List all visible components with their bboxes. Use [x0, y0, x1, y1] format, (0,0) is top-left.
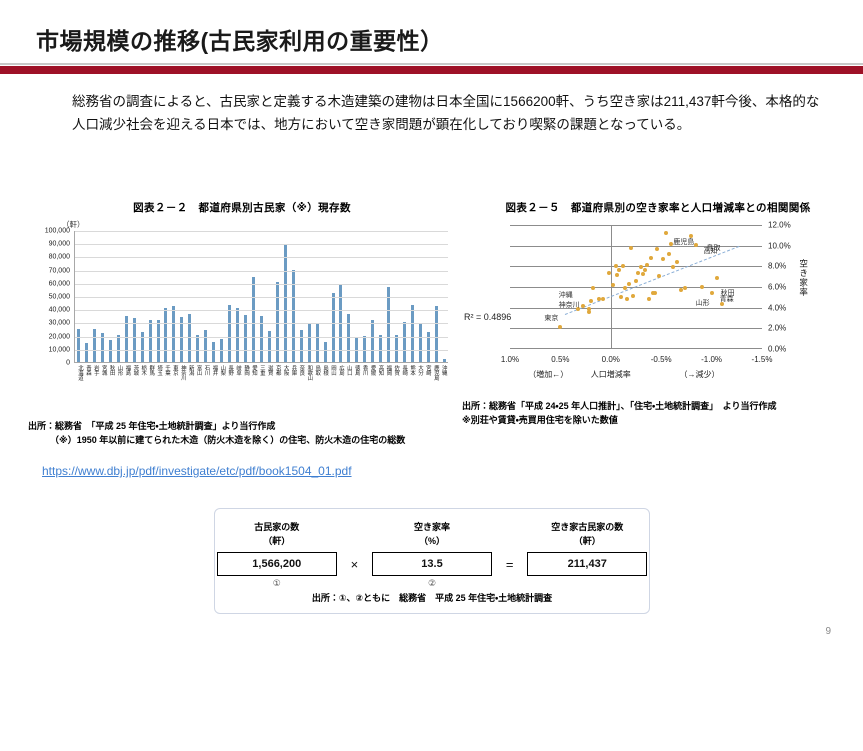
bar-chart-x-label: 岩手: [92, 365, 98, 405]
bar-chart-bar: [228, 305, 231, 362]
bar-chart-x-label: 熊本: [408, 365, 414, 405]
formula-term1-unit: （軒）: [263, 535, 290, 549]
bar-chart-gridline: [75, 350, 448, 351]
bar-chart-x-label: 岡山: [329, 365, 335, 405]
bar-chart-y-tick: 40,000: [49, 307, 70, 314]
formula-operator-multiply: ×: [339, 521, 371, 572]
bar-chart-x-label: 宮城: [100, 365, 106, 405]
bar-chart-title: 図表２－２ 都道府県別古民家（※）現存数: [32, 200, 452, 215]
formula-term2-value: 13.5: [372, 552, 492, 576]
bar-chart-x-label: 静岡: [242, 365, 248, 405]
scatter-chart-point: [700, 285, 704, 289]
bar-chart-bar: [324, 342, 327, 362]
scatter-chart-point: [607, 271, 611, 275]
scatter-chart-x-tick: 1.0%: [501, 355, 519, 364]
bar-chart-x-label: 新潟: [187, 365, 193, 405]
scatter-chart-point: [619, 295, 623, 299]
scatter-chart-point: [667, 252, 671, 256]
scatter-chart-point-label: 鳥取: [706, 243, 720, 253]
scatter-chart-point: [636, 271, 640, 275]
bar-chart-x-label: 京都: [274, 365, 280, 405]
bar-chart-x-label: 佐賀: [392, 365, 398, 405]
scatter-chart-point: [649, 256, 653, 260]
scatter-chart-x-tick: 0.5%: [551, 355, 569, 364]
scatter-chart-point: [587, 307, 591, 311]
scatter-chart-point-label: 山形: [696, 298, 710, 308]
bar-chart-y-tick: 100,000: [45, 228, 70, 235]
bar-chart-bar: [204, 330, 207, 362]
scatter-chart-x-note-right: （→減少）: [680, 369, 720, 380]
bar-chart-y-tick: 90,000: [49, 241, 70, 248]
scatter-chart-source: 出所：総務省「平成 24・25 年人口推計」、「住宅・土地統計調査」 より当行作…: [462, 400, 862, 428]
bar-chart-x-label: 神奈川: [179, 365, 185, 405]
scatter-chart-point: [643, 268, 647, 272]
scatter-chart-x-note-left: （増加←）: [528, 369, 568, 380]
formula-term1-value: 1,566,200: [217, 552, 337, 576]
bar-chart-gridline: [75, 257, 448, 258]
formula-term-komin: 古民家の数 （軒） 1,566,200 ①: [215, 521, 339, 589]
scatter-chart-point: [655, 247, 659, 251]
bar-chart-bar: [411, 305, 414, 362]
scatter-chart-point: [591, 286, 595, 290]
scatter-chart-gridline: [510, 266, 762, 267]
bar-chart-gridline: [75, 337, 448, 338]
bar-chart-y-tick: 70,000: [49, 267, 70, 274]
scatter-chart-y-tick: 10.0%: [768, 241, 791, 250]
scatter-chart-point: [623, 286, 627, 290]
bar-chart-bar: [212, 342, 215, 362]
scatter-chart-y-tick: 6.0%: [768, 283, 786, 292]
bar-chart-x-label: 群馬: [147, 365, 153, 405]
bar-chart-bar: [403, 322, 406, 362]
bar-chart-bar: [117, 335, 120, 362]
bar-chart-gridline: [75, 284, 448, 285]
bar-chart-bar: [196, 335, 199, 362]
header-divider-thin: [0, 63, 863, 65]
bar-chart-x-label: 滋賀: [266, 365, 272, 405]
bar-chart-x-label: 鳥取: [313, 365, 319, 405]
scatter-chart-point: [558, 325, 562, 329]
bar-chart-bar: [244, 315, 247, 362]
scatter-chart-x-tick: -0.5%: [651, 355, 672, 364]
bar-chart-x-label: 石川: [203, 365, 209, 405]
lead-paragraph: 総務省の調査によると、古民家と定義する木造建築の建物は日本全国に1566200軒…: [72, 90, 820, 136]
scatter-chart-gridline: [510, 246, 762, 247]
scatter-chart-plot-area: 東京神奈川沖縄鹿児島高知鳥取青森秋田山形R² = 0.4896: [510, 225, 762, 349]
bar-chart-x-label: 長野: [226, 365, 232, 405]
bar-chart-bar: [188, 314, 191, 362]
scatter-chart-point: [625, 297, 629, 301]
bar-chart-y-tick: 80,000: [49, 254, 70, 261]
bar-chart-x-label: 愛知: [250, 365, 256, 405]
bar-chart-bar: [77, 329, 80, 362]
bar-chart-gridline: [75, 323, 448, 324]
bar-chart-x-label: 兵庫: [289, 365, 295, 405]
bar-chart-x-label: 長崎: [400, 365, 406, 405]
scatter-chart-point: [581, 304, 585, 308]
scatter-chart-point-label: 沖縄: [559, 290, 573, 300]
bar-chart-x-label: 鹿児島: [432, 365, 438, 405]
scatter-chart-point: [675, 260, 679, 264]
scatter-chart-x-tick: 0.0%: [602, 355, 620, 364]
scatter-chart-y-tick: 12.0%: [768, 221, 791, 230]
bar-chart-unit-label: （軒）: [62, 219, 452, 230]
bar-chart-plot: 100,00090,00080,00070,00060,00050,00040,…: [32, 231, 452, 381]
bar-chart-x-label: 三重: [258, 365, 264, 405]
scatter-chart-point: [671, 265, 675, 269]
scatter-chart-point: [647, 297, 651, 301]
page-title: 市場規模の推移(古民家利用の重要性）: [36, 22, 444, 56]
bar-chart-x-label: 山口: [345, 365, 351, 405]
bar-chart-gridline: [75, 297, 448, 298]
formula-term-result: 空き家古民家の数 （軒） 211,437: [526, 521, 650, 578]
bar-chart-bar: [157, 320, 160, 362]
bar-chart-x-label: 和歌山: [305, 365, 311, 405]
bar-chart-x-label: 大阪: [282, 365, 288, 405]
bar-chart-x-axis-labels: 北海道青森岩手宮城秋田山形福島茨城栃木群馬埼玉千葉東京神奈川新潟富山石川福井山梨…: [74, 365, 448, 405]
formula-footer: 出所：①、②ともに 総務省 平成 25 年住宅・土地統計調査: [215, 591, 649, 604]
scatter-chart-y-tick: 8.0%: [768, 262, 786, 271]
bar-chart-bar: [332, 293, 335, 362]
bar-chart-x-label: 茨城: [131, 365, 137, 405]
bar-chart-bar: [395, 335, 398, 362]
scatter-chart-point: [657, 274, 661, 278]
bar-chart-y-tick: 0: [66, 360, 70, 367]
scatter-chart-r-squared-label: R² = 0.4896: [464, 312, 511, 322]
scatter-chart-plot: 東京神奈川沖縄鹿児島高知鳥取青森秋田山形R² = 0.4896 空き家率 0.0…: [462, 219, 854, 371]
bar-chart-gridline: [75, 244, 448, 245]
formula-term2-mark: ②: [428, 578, 436, 589]
bar-chart-bar: [109, 340, 112, 362]
scatter-chart-point: [715, 276, 719, 280]
scatter-chart-point: [617, 268, 621, 272]
bar-chart-x-label: 福岡: [384, 365, 390, 405]
bar-chart-y-tick: 30,000: [49, 320, 70, 327]
bar-chart-x-label: 北海道: [76, 365, 82, 405]
scatter-chart-title: 図表２－５ 都道府県別の空き家率と人口増減率との相関関係: [462, 200, 854, 215]
scatter-chart-gridline: [510, 308, 762, 309]
bar-chart-x-label: 栃木: [139, 365, 145, 405]
scatter-chart-source-line2: ※別荘や賃貸・売買用住宅を除いた数値: [462, 414, 862, 428]
formula-term1-head: 古民家の数: [254, 521, 299, 535]
formula-term3-unit: （軒）: [574, 535, 601, 549]
bar-chart-x-label: 岐阜: [234, 365, 240, 405]
scatter-chart-gridline: [510, 328, 762, 329]
bar-chart-x-label: 奈良: [297, 365, 303, 405]
bar-chart-x-label: 広島: [337, 365, 343, 405]
bar-chart-x-label: 福島: [123, 365, 129, 405]
bar-chart-bar: [300, 330, 303, 362]
source-url-link[interactable]: https://www.dbj.jp/pdf/investigate/etc/p…: [42, 464, 352, 478]
scatter-chart-x-axis-title: 人口増減率: [591, 369, 631, 380]
scatter-chart-point: [615, 273, 619, 277]
formula-term2-unit: （%）: [419, 535, 445, 549]
bar-chart-bar: [443, 359, 446, 362]
bar-chart-bar: [236, 308, 239, 362]
scatter-chart-y-tick: 0.0%: [768, 345, 786, 354]
bar-chart-x-label: 秋田: [108, 365, 114, 405]
bar-chart-bar: [347, 314, 350, 362]
scatter-chart-point: [645, 263, 649, 267]
scatter-chart-axis-line: [510, 348, 762, 349]
header-divider-accent: [0, 66, 863, 74]
bar-chart-source-line2: （※）1950 年以前に建てられた木造（防火木造を除く）の住宅、防火木造の住宅の…: [28, 434, 468, 448]
scatter-chart-point: [710, 291, 714, 295]
scatter-chart-point: [653, 291, 657, 295]
bar-chart-y-tick: 20,000: [49, 333, 70, 340]
bar-chart-gridline: [75, 271, 448, 272]
formula-term3-value: 211,437: [527, 552, 647, 576]
bar-chart-x-label: 宮崎: [424, 365, 430, 405]
figure-bar-chart: 図表２－２ 都道府県別古民家（※）現存数 （軒） 100,00090,00080…: [32, 200, 452, 381]
bar-chart-y-tick: 60,000: [49, 280, 70, 287]
bar-chart-y-tick: 50,000: [49, 294, 70, 301]
bar-chart-bar: [284, 245, 287, 362]
bar-chart-bar: [149, 320, 152, 362]
formula-box: 古民家の数 （軒） 1,566,200 ① × 空き家率 （%） 13.5 ② …: [214, 508, 650, 614]
scatter-chart-point-label: 鹿児島: [673, 237, 694, 247]
bar-chart-x-label: 沖縄: [440, 365, 446, 405]
scatter-chart-point-label: 東京: [544, 313, 558, 323]
bar-chart-gridline: [75, 310, 448, 311]
bar-chart-bar: [93, 329, 96, 362]
bar-chart-x-label: 徳島: [353, 365, 359, 405]
bar-chart-x-label: 高知: [376, 365, 382, 405]
bar-chart-gridline: [75, 231, 448, 232]
bar-chart-y-axis: 100,00090,00080,00070,00060,00050,00040,…: [32, 231, 72, 363]
scatter-chart-point: [661, 257, 665, 261]
bar-chart-bar: [419, 324, 422, 362]
formula-operator-equals: =: [494, 521, 526, 572]
scatter-chart-x-tick: -1.5%: [752, 355, 773, 364]
bar-chart-bar: [316, 323, 319, 362]
bar-chart-plot-area: [74, 231, 448, 363]
bar-chart-x-label: 島根: [321, 365, 327, 405]
bar-chart-bar: [133, 318, 136, 362]
scatter-chart-y-tick: 2.0%: [768, 324, 786, 333]
bar-chart-x-label: 山梨: [218, 365, 224, 405]
formula-term3-head: 空き家古民家の数: [551, 521, 623, 535]
scatter-chart-x-tick: -1.0%: [701, 355, 722, 364]
scatter-chart-gridline: [510, 225, 762, 226]
scatter-chart-point: [627, 282, 631, 286]
scatter-chart-point: [634, 279, 638, 283]
bar-chart-source-line1: 出所：総務省 「平成 25 年住宅・土地統計調査」より当行作成: [28, 420, 468, 434]
bar-chart-x-label: 富山: [195, 365, 201, 405]
page-number: 9: [825, 626, 831, 637]
scatter-chart-point: [611, 283, 615, 287]
scatter-chart-point-label: 秋田: [721, 288, 735, 298]
bar-chart-x-label: 青森: [84, 365, 90, 405]
scatter-chart-point: [589, 299, 593, 303]
formula-term1-mark: ①: [273, 578, 281, 589]
formula-term2-head: 空き家率: [414, 521, 450, 535]
slide-root: 市場規模の推移(古民家利用の重要性） 総務省の調査によると、古民家と定義する木造…: [0, 0, 863, 751]
bar-chart-x-label: 千葉: [163, 365, 169, 405]
scatter-chart-point: [664, 231, 668, 235]
bar-chart-bar: [308, 324, 311, 362]
scatter-chart-y-tick: 4.0%: [768, 303, 786, 312]
bar-chart-bar: [172, 306, 175, 362]
bar-chart-bar: [371, 320, 374, 362]
bar-chart-y-tick: 10,000: [49, 346, 70, 353]
bar-chart-bar: [435, 306, 438, 362]
bar-chart-source: 出所：総務省 「平成 25 年住宅・土地統計調査」より当行作成 （※）1950 …: [28, 420, 468, 448]
bar-chart-bar: [85, 343, 88, 362]
bar-chart-x-label: 福井: [210, 365, 216, 405]
bar-chart-x-label: 埼玉: [155, 365, 161, 405]
scatter-chart-point: [629, 246, 633, 250]
formula-term-rate: 空き家率 （%） 13.5 ②: [370, 521, 494, 589]
scatter-chart-point: [621, 264, 625, 268]
scatter-chart-zero-line: [611, 225, 612, 349]
scatter-chart-point: [694, 243, 698, 247]
scatter-chart-point: [601, 297, 605, 301]
figure-scatter-chart: 図表２－５ 都道府県別の空き家率と人口増減率との相関関係 東京神奈川沖縄鹿児島高…: [462, 200, 854, 371]
bar-chart-bar: [379, 335, 382, 362]
scatter-chart-point-label: 神奈川: [559, 300, 580, 310]
bar-chart-x-label: 香川: [361, 365, 367, 405]
bar-chart-x-label: 山形: [116, 365, 122, 405]
bar-chart-bar: [164, 308, 167, 362]
bar-chart-x-label: 大分: [416, 365, 422, 405]
scatter-chart-point: [683, 286, 687, 290]
scatter-chart-y-axis-title: 空き家率: [798, 259, 809, 297]
bar-chart-x-label: 東京: [171, 365, 177, 405]
scatter-chart-point: [631, 294, 635, 298]
scatter-chart-source-line1: 出所：総務省「平成 24・25 年人口推計」、「住宅・土地統計調査」 より当行作…: [462, 400, 862, 414]
bar-chart-x-label: 愛媛: [369, 365, 375, 405]
